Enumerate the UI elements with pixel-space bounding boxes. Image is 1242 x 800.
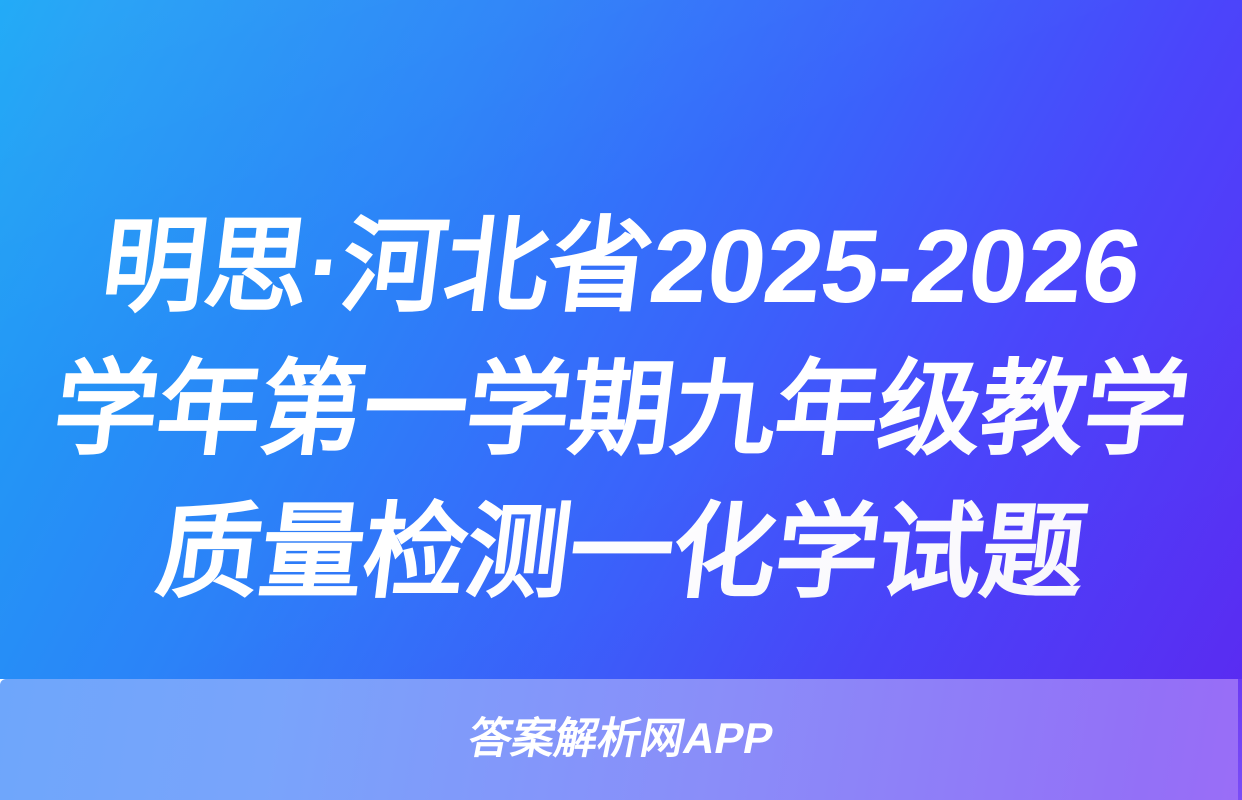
watermark-label: 答案解析网APP (465, 718, 777, 761)
hero-gradient-panel: 明思·河北省2025-2026 学年第一学期九年级教学 质量检测一化学试题 (0, 0, 1242, 679)
page-title: 明思·河北省2025-2026 学年第一学期九年级教学 质量检测一化学试题 (0, 196, 1242, 625)
title-line-2: 学年第一学期九年级教学 (33, 339, 1209, 482)
watermark-bar: 答案解析网APP (0, 679, 1242, 800)
exam-cover-screen: 明思·河北省2025-2026 学年第一学期九年级教学 质量检测一化学试题 答案… (0, 0, 1242, 800)
title-line-3: 质量检测一化学试题 (33, 482, 1209, 625)
watermark-container: 答案解析网APP (0, 679, 1242, 800)
title-line-1: 明思·河北省2025-2026 (33, 196, 1209, 339)
footer-right-edge-strip (1238, 679, 1242, 800)
